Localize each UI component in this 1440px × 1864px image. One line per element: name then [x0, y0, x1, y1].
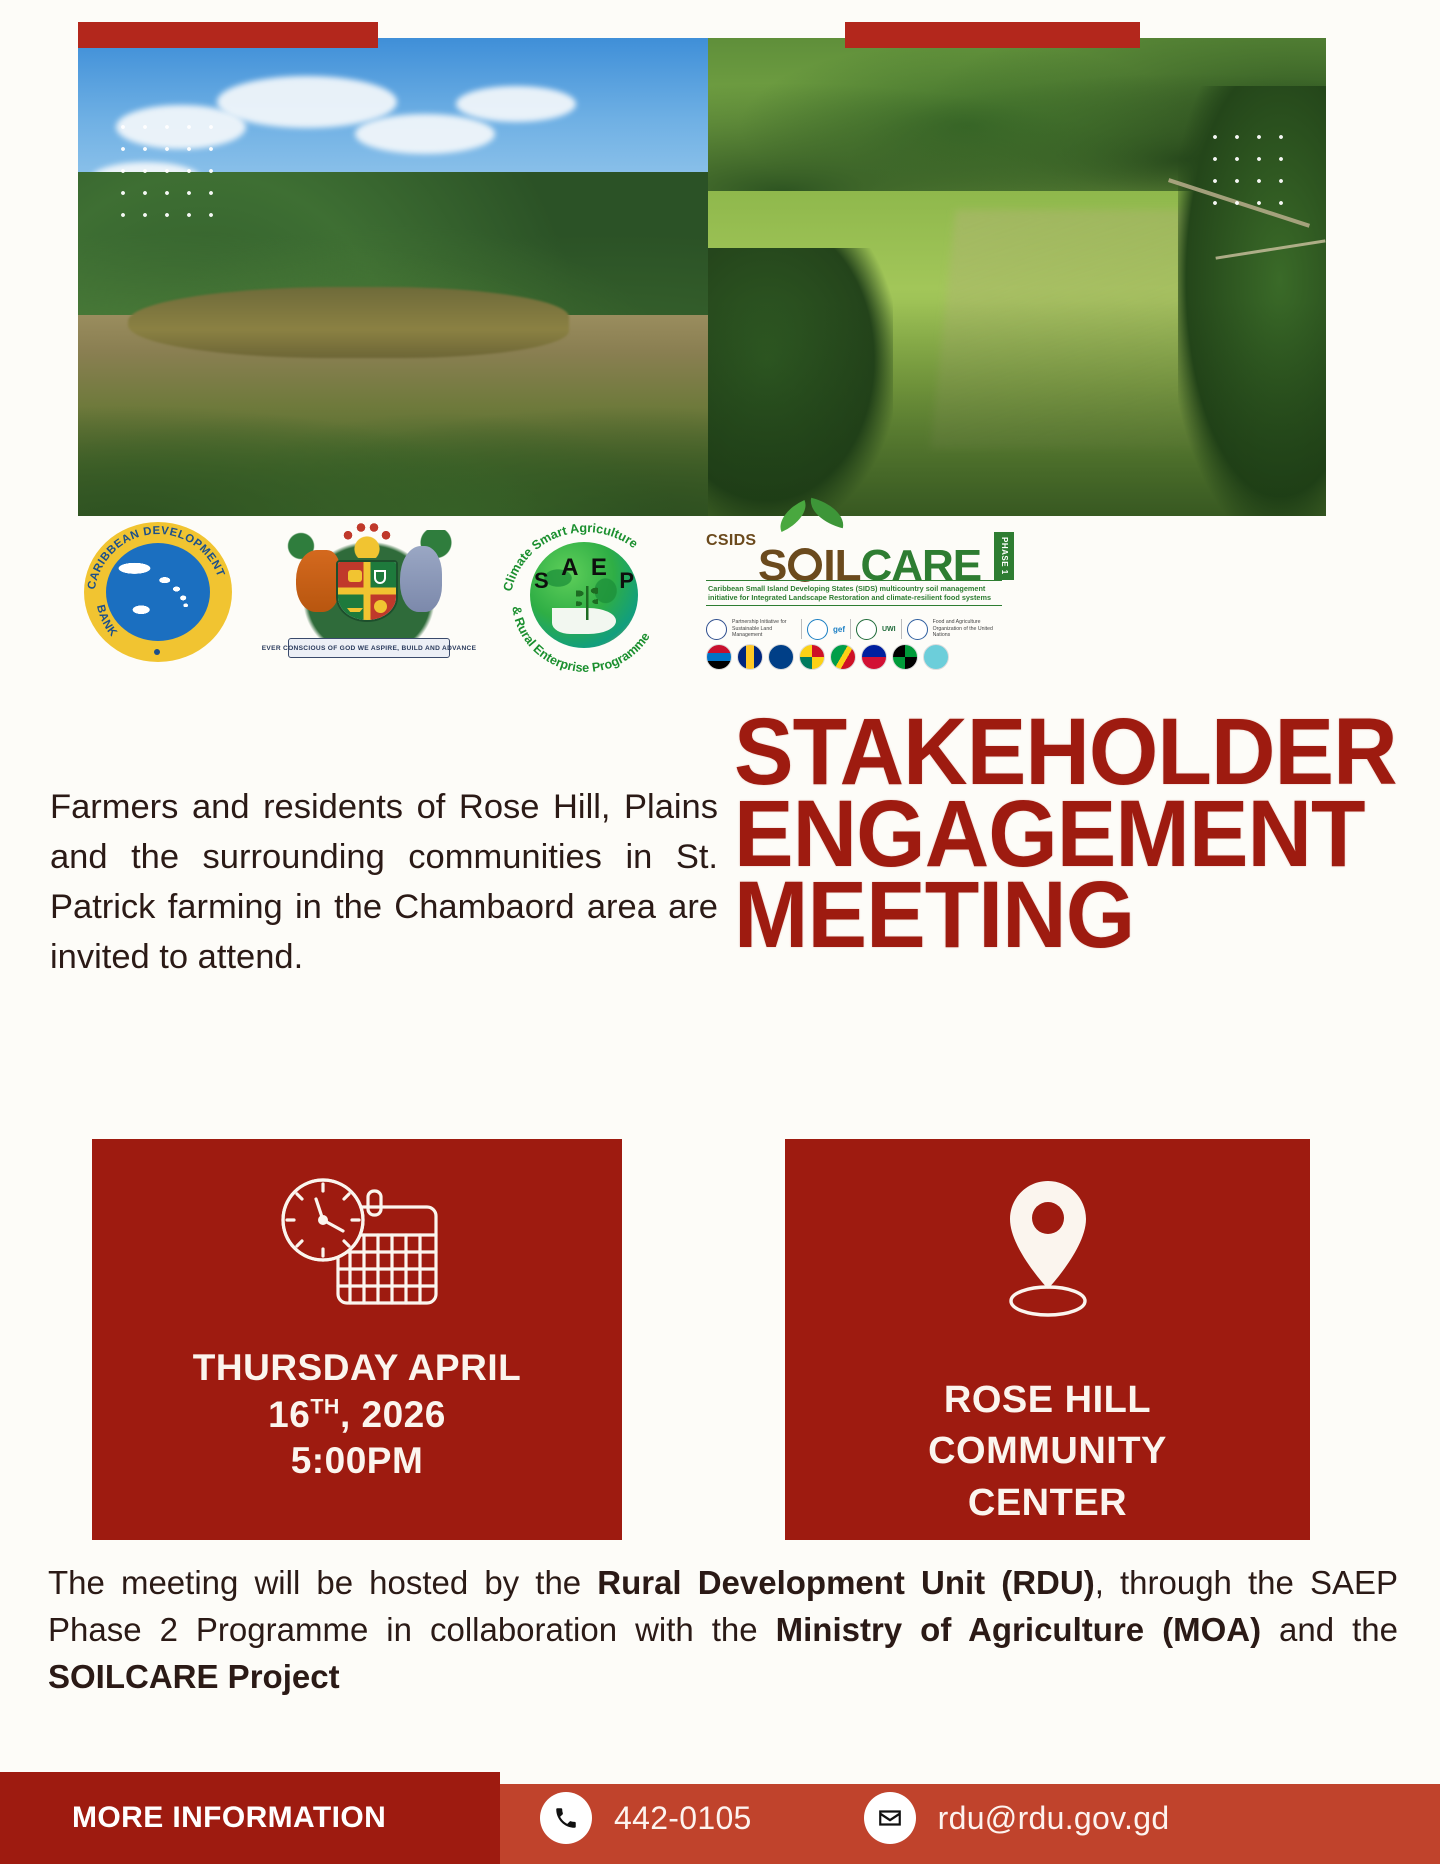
host-bold-rdu: Rural Development Unit (RDU): [597, 1564, 1094, 1601]
uwi-logo-icon: [856, 619, 877, 640]
host-text-3: and the: [1261, 1611, 1398, 1648]
location-pin-icon: [983, 1173, 1113, 1333]
date-day-suffix: TH: [310, 1394, 340, 1418]
flag-jamaica: [892, 644, 918, 670]
accent-bar-left: [78, 22, 378, 48]
cdb-separator-dot: [154, 649, 160, 655]
coa-cross-horizontal: [338, 588, 396, 595]
fao-label: Food and Agriculture Organization of the…: [933, 619, 997, 639]
photo-grassy-slope: [708, 38, 1326, 516]
phone-contact[interactable]: 442-0105: [540, 1792, 752, 1844]
email-contact[interactable]: rdu@rdu.gov.gd: [864, 1792, 1170, 1844]
coa-ship-charge: [347, 602, 363, 612]
cloud-shape: [456, 86, 576, 122]
calendar-clock-icon: [264, 1173, 450, 1325]
flag-belize: [768, 644, 794, 670]
flag-guyana: [830, 644, 856, 670]
svg-text:& Rural Enterprise Programme: & Rural Enterprise Programme: [509, 605, 652, 672]
csids-soilcare-logo: CSIDS S IL CARE PHASE 1 Caribbean Small …: [704, 520, 1014, 672]
coa-armadillo-supporter: [296, 550, 340, 612]
phone-icon: [540, 1792, 592, 1844]
cdb-caribbean-map: [116, 555, 200, 629]
host-text-1: The meeting will be hosted by the: [48, 1564, 597, 1601]
location-card-text: ROSE HILL COMMUNITY CENTER: [928, 1375, 1167, 1529]
intro-paragraph: Farmers and residents of Rose Hill, Plai…: [50, 782, 718, 982]
divider: [850, 619, 851, 639]
pislm-label: Partnership Initiative for Sustainable L…: [732, 619, 796, 639]
saep-logo: S A E P Climate Smart Agriculture & Rura…: [494, 520, 678, 670]
svg-text:Climate Smart Agriculture: Climate Smart Agriculture: [501, 521, 641, 593]
headline-line-3: MEETING: [734, 875, 1336, 957]
coa-motto-text: EVER CONSCIOUS OF GOD WE ASPIRE, BUILD A…: [262, 645, 477, 652]
location-line-2: COMMUNITY: [928, 1430, 1167, 1472]
photo-shadow-gradient: [708, 301, 1326, 516]
coa-motto-ribbon: EVER CONSCIOUS OF GOD WE ASPIRE, BUILD A…: [288, 638, 450, 658]
photo-dry-pond: [78, 38, 708, 516]
soilcare-phase-tag: PHASE 1: [994, 532, 1014, 580]
photo-scrub-vegetation: [78, 353, 708, 516]
date-line-1: THURSDAY APRIL: [193, 1347, 521, 1388]
gef-label: gef: [833, 625, 845, 634]
envelope-icon: [864, 1792, 916, 1844]
divider: [901, 619, 902, 639]
soilcare-country-flags: [706, 644, 1006, 670]
divider: [801, 619, 802, 639]
coa-quarter: [367, 591, 396, 620]
flag-antigua-and-barbuda: [706, 644, 732, 670]
date-year: , 2026: [340, 1394, 446, 1435]
soilcare-letter-s: S: [758, 548, 787, 584]
soilcare-letters-il: IL: [823, 548, 860, 584]
flag-saint-lucia: [923, 644, 949, 670]
coa-lion-charge: [348, 570, 362, 582]
coa-dove-supporter: [400, 546, 442, 612]
date-card-text: THURSDAY APRIL 16TH, 2026 5:00PM: [193, 1345, 521, 1485]
soilcare-letter-o: [788, 548, 822, 582]
soilcare-word-care: CARE: [860, 548, 981, 584]
caribbean-development-bank-logo: CARIBBEAN DEVELOPMENT BANK: [78, 520, 238, 662]
uwi-label: UWI: [882, 626, 896, 633]
fao-logo-icon: [907, 619, 928, 640]
date-card: THURSDAY APRIL 16TH, 2026 5:00PM: [92, 1139, 622, 1540]
cdb-globe: [106, 543, 210, 641]
saep-arc-text: Climate Smart Agriculture & Rural Enterp…: [494, 520, 678, 672]
hero-photo-band: [78, 38, 1326, 516]
dot-grid-overlay-right: [1204, 126, 1296, 212]
cdb-ring: [84, 522, 232, 662]
location-line-3: CENTER: [968, 1482, 1127, 1524]
partner-logo-row: CARIBBEAN DEVELOPMENT BANK EVER CONSCIOU…: [78, 520, 1338, 670]
coa-anchor-charge: [374, 570, 386, 584]
page-title: STAKEHOLDER ENGAGEMENT MEETING: [734, 712, 1374, 957]
footer-contact-bar: MORE INFORMATION 442-0105 rdu@rdu.gov.gd: [0, 1772, 1440, 1864]
flag-haiti: [861, 644, 887, 670]
flag-barbados: [737, 644, 763, 670]
flag-grenada: [799, 644, 825, 670]
photo-pond: [128, 287, 569, 359]
coa-flower-charge: [374, 600, 387, 613]
soilcare-partner-row: Partnership Initiative for Sustainable L…: [706, 614, 1006, 644]
coa-shield: [336, 560, 398, 622]
gef-logo-icon: [807, 619, 828, 640]
soilcare-strapline: Caribbean Small Island Developing States…: [706, 580, 1002, 606]
host-paragraph: The meeting will be hosted by the Rural …: [48, 1560, 1398, 1701]
grenada-coat-of-arms-logo: EVER CONSCIOUS OF GOD WE ASPIRE, BUILD A…: [262, 520, 472, 668]
footer-contact-items: 442-0105 rdu@rdu.gov.gd: [500, 1772, 1169, 1864]
host-bold-moa: Ministry of Agriculture (MOA): [776, 1611, 1261, 1648]
pislm-logo-icon: [706, 619, 727, 640]
dot-grid-overlay-left: [112, 116, 224, 224]
accent-bar-right: [845, 22, 1140, 48]
host-bold-soilcare: SOILCARE Project: [48, 1658, 340, 1695]
soilcare-wordmark: CSIDS S IL CARE PHASE 1: [704, 520, 1014, 578]
footer-label-text: MORE INFORMATION: [72, 1801, 386, 1835]
coa-crest: [350, 528, 384, 558]
more-information-label: MORE INFORMATION: [0, 1772, 500, 1864]
date-time: 5:00PM: [291, 1440, 424, 1481]
email-address: rdu@rdu.gov.gd: [938, 1800, 1170, 1837]
location-line-1: ROSE HILL: [944, 1379, 1151, 1421]
phone-number: 442-0105: [614, 1800, 752, 1837]
location-card: ROSE HILL COMMUNITY CENTER: [785, 1139, 1310, 1540]
date-day: 16: [268, 1394, 310, 1435]
